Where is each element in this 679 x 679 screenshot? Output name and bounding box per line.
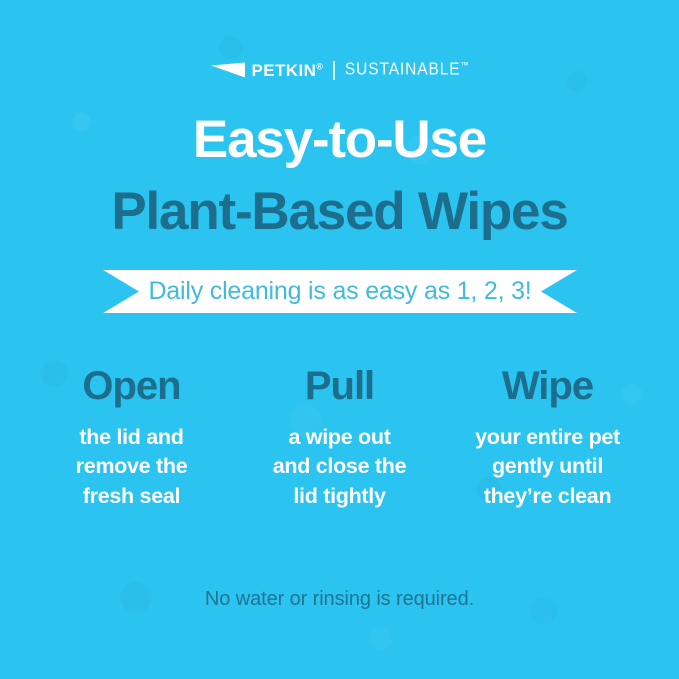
brand-divider: [333, 61, 335, 80]
step-wipe: Wipe your entire pet gently until they’r…: [450, 366, 645, 511]
brand-name-text: PETKIN: [252, 61, 317, 80]
step-title: Pull: [242, 366, 437, 406]
step-body: the lid and remove the fresh seal: [34, 423, 229, 511]
headline-line-2: Plant-Based Wipes: [0, 184, 679, 240]
registered-mark: ®: [316, 61, 323, 71]
footer-note: No water or rinsing is required.: [0, 589, 679, 609]
paper-texture-overlay: [0, 0, 679, 679]
step-title: Open: [34, 366, 229, 406]
step-pull: Pull a wipe out and close the lid tightl…: [242, 366, 437, 511]
step-body: your entire pet gently until they’re cle…: [450, 423, 645, 511]
petkin-wedge-icon: [211, 62, 245, 78]
ribbon-banner: Daily cleaning is as easy as 1, 2, 3!: [103, 270, 577, 313]
brand-bar: PETKIN® SUSTAINABLE™: [0, 58, 679, 82]
step-title: Wipe: [450, 366, 645, 406]
brand-tagline: SUSTAINABLE™: [345, 61, 469, 79]
step-open: Open the lid and remove the fresh seal: [34, 366, 229, 511]
trademark-mark: ™: [460, 60, 468, 70]
brand-name: PETKIN®: [252, 62, 323, 79]
headline-line-1: Easy-to-Use: [0, 112, 679, 168]
ribbon-banner-label: Daily cleaning is as easy as 1, 2, 3!: [148, 279, 531, 304]
brand-tagline-text: SUSTAINABLE: [345, 60, 461, 79]
steps-row: Open the lid and remove the fresh seal P…: [34, 366, 645, 511]
step-body: a wipe out and close the lid tightly: [242, 423, 437, 511]
product-instructions-poster: PETKIN® SUSTAINABLE™ Easy-to-Use Plant-B…: [0, 0, 679, 679]
page-title: Easy-to-Use Plant-Based Wipes: [0, 112, 679, 240]
